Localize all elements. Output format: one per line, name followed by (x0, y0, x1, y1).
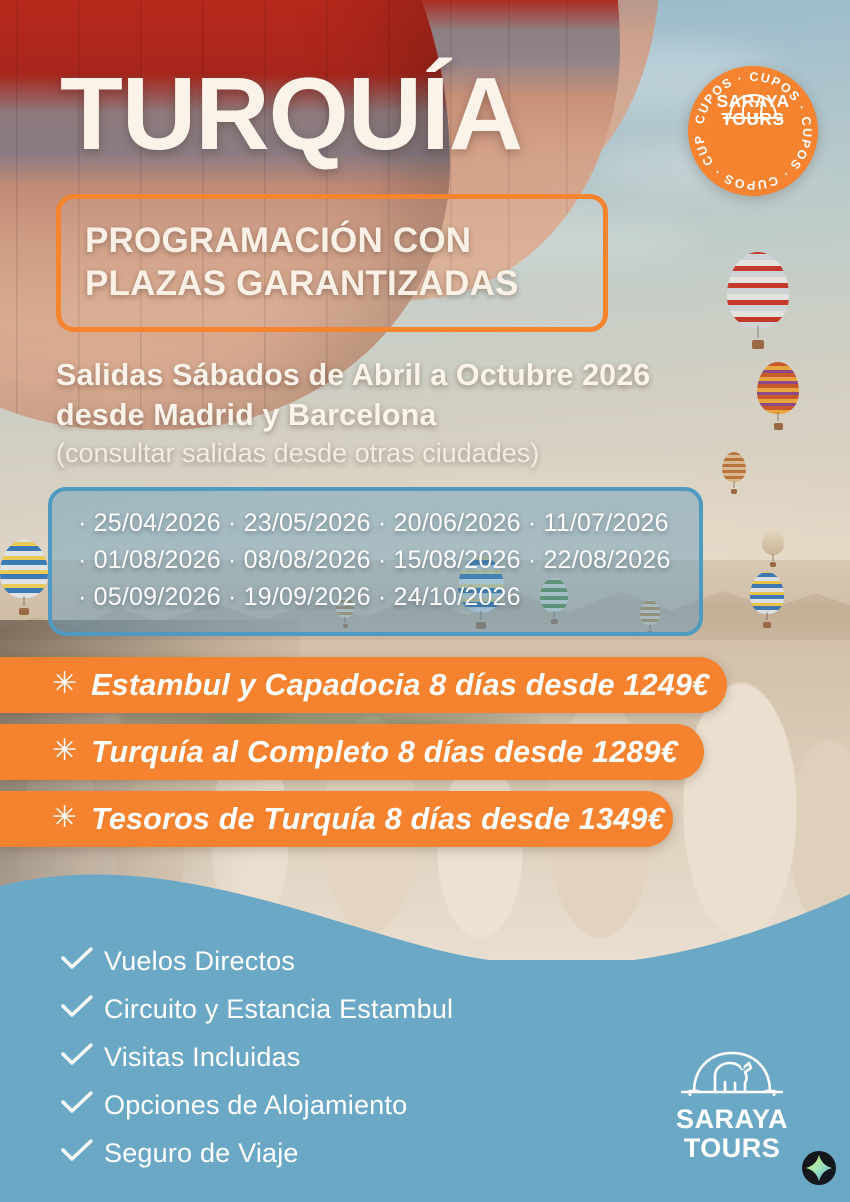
poster-content: TURQUÍA CUPOS · CUPOS · CUPOS · CUPOS · … (0, 0, 850, 1202)
check-icon (60, 1138, 104, 1169)
offer-bar-tesoros-turquia[interactable]: ✳ Tesoros de Turquía 8 días desde 1349€ (0, 791, 673, 847)
svg-text:CUPOS · CUPOS · CUPOS · CUPOS: CUPOS · CUPOS · CUPOS · CUPOS · CUPOS · (688, 66, 814, 192)
check-icon (60, 946, 104, 977)
poster-turquia: TURQUÍA CUPOS · CUPOS · CUPOS · CUPOS · … (0, 0, 850, 1202)
badge-core: SARAYA TOURS (688, 92, 818, 129)
ai-sparkle-icon (801, 1150, 837, 1186)
cupos-badge: CUPOS · CUPOS · CUPOS · CUPOS · CUPOS · … (688, 66, 818, 196)
offer-label: Turquía al Completo 8 días desde 1289€ (91, 735, 678, 770)
feature-label: Circuito y Estancia Estambul (104, 996, 453, 1023)
page-title: TURQUÍA (60, 62, 522, 165)
departures-line1: Salidas Sábados de Abril a Octubre 2026 (56, 356, 796, 396)
camel-arch-icon (721, 92, 785, 122)
star-icon: ✳ (52, 736, 77, 766)
feature-label: Opciones de Alojamiento (104, 1092, 407, 1119)
check-icon (60, 1090, 104, 1121)
promo-banner: PROGRAMACIÓN CON PLAZAS GARANTIZADAS (56, 194, 608, 332)
list-item: Vuelos Directos (60, 937, 453, 985)
list-item: Visitas Incluidas (60, 1033, 453, 1081)
star-icon: ✳ (52, 669, 77, 699)
feature-label: Seguro de Viaje (104, 1140, 299, 1167)
departures-block: Salidas Sábados de Abril a Octubre 2026 … (56, 356, 796, 471)
dates-row: · 05/09/2026 · 19/09/2026 · 24/10/2026 (78, 579, 673, 616)
list-item: Circuito y Estancia Estambul (60, 985, 453, 1033)
camel-arch-icon (678, 1048, 786, 1098)
dates-box: · 25/04/2026 · 23/05/2026 · 20/06/2026 ·… (48, 487, 703, 636)
dates-row: · 25/04/2026 · 23/05/2026 · 20/06/2026 ·… (78, 505, 673, 542)
star-icon: ✳ (52, 803, 77, 833)
features-list: Vuelos Directos Circuito y Estancia Esta… (60, 937, 453, 1177)
offer-bar-turquia-completo[interactable]: ✳ Turquía al Completo 8 días desde 1289€ (0, 724, 704, 780)
departures-note: (consultar salidas desde otras ciudades) (56, 437, 796, 471)
check-icon (60, 1042, 104, 1073)
badge-ring-text: CUPOS · CUPOS · CUPOS · CUPOS · CUPOS · (688, 66, 818, 196)
footer-logo-line1: SARAYA (668, 1105, 796, 1134)
offer-label: Estambul y Capadocia 8 días desde 1249€ (91, 668, 709, 703)
offer-bar-estambul-capadocia[interactable]: ✳ Estambul y Capadocia 8 días desde 1249… (0, 657, 727, 713)
departures-line2: desde Madrid y Barcelona (56, 396, 796, 436)
check-icon (60, 994, 104, 1025)
dates-row: · 01/08/2026 · 08/08/2026 · 15/08/2026 ·… (78, 542, 673, 579)
offer-label: Tesoros de Turquía 8 días desde 1349€ (91, 802, 665, 837)
footer-logo-saraya-tours: SARAYA TOURS (668, 1048, 796, 1162)
feature-label: Vuelos Directos (104, 948, 295, 975)
list-item: Opciones de Alojamiento (60, 1081, 453, 1129)
footer-logo-line2: TOURS (668, 1134, 796, 1163)
list-item: Seguro de Viaje (60, 1129, 453, 1177)
feature-label: Visitas Incluidas (104, 1044, 301, 1071)
promo-text: PROGRAMACIÓN CON PLAZAS GARANTIZADAS (61, 220, 519, 305)
